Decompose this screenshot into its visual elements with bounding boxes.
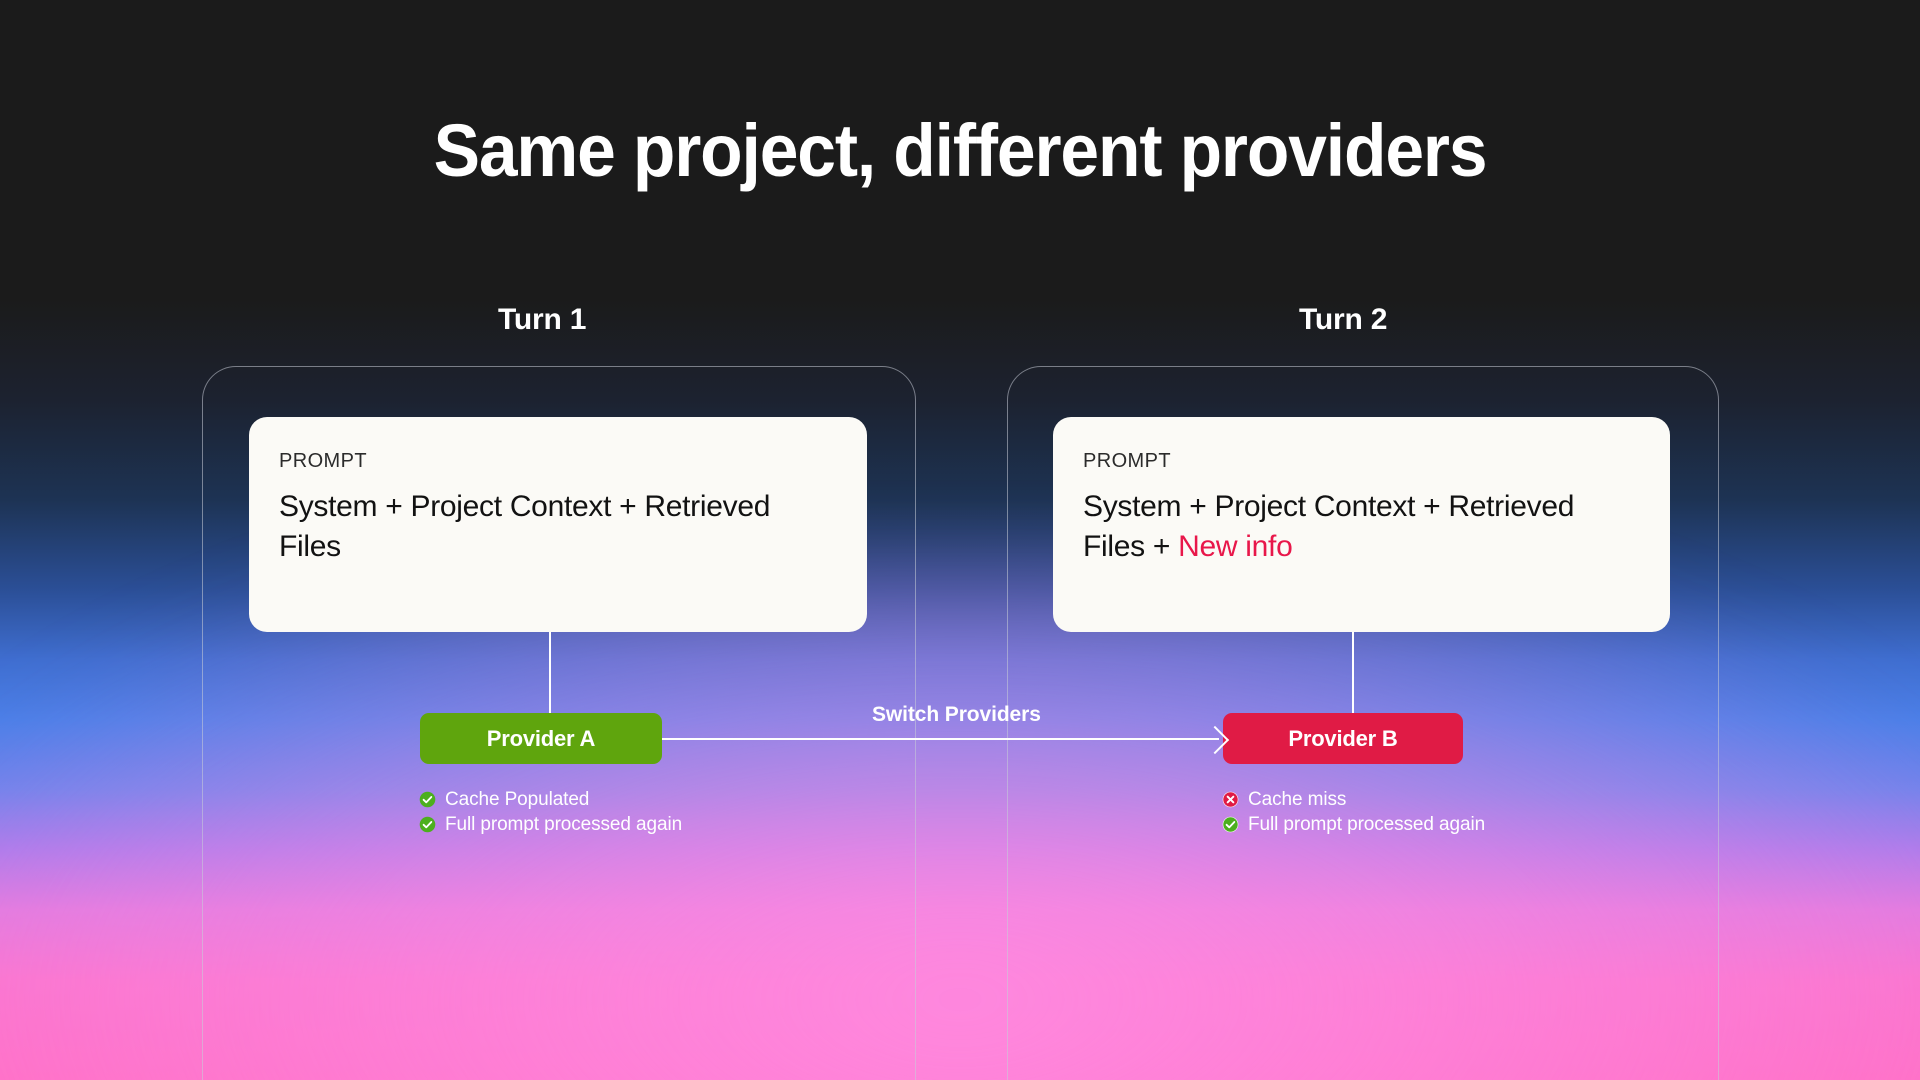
- page-title: Same project, different providers: [58, 108, 1863, 193]
- check-circle-icon: [419, 816, 436, 833]
- status-label: Full prompt processed again: [1248, 814, 1485, 836]
- turn-2-prompt-highlight: New info: [1178, 530, 1292, 563]
- turn-2-prompt-label: PROMPT: [1083, 450, 1640, 473]
- turn-1-status-list: Cache Populated Full prompt processed ag…: [419, 787, 682, 837]
- x-circle-icon: [1222, 791, 1239, 808]
- turn-1-heading: Turn 1: [498, 303, 586, 337]
- switch-providers-label: Switch Providers: [872, 703, 1041, 727]
- turn-1-prompt-label: PROMPT: [279, 450, 837, 473]
- turn-2-prompt-text: System + Project Context + Retrieved Fil…: [1083, 490, 1574, 563]
- status-item: Cache miss: [1222, 787, 1485, 812]
- check-circle-icon: [1222, 816, 1239, 833]
- turn-1-prompt-card: PROMPT System + Project Context + Retrie…: [249, 417, 867, 632]
- diagram-canvas: Same project, different providers Turn 1…: [0, 0, 1920, 1080]
- turn-2-prompt-body: System + Project Context + Retrieved Fil…: [1083, 487, 1640, 567]
- status-label: Cache Populated: [445, 789, 589, 811]
- status-label: Full prompt processed again: [445, 814, 682, 836]
- provider-b-button[interactable]: Provider B: [1223, 713, 1463, 764]
- turn-2-status-list: Cache miss Full prompt processed again: [1222, 787, 1485, 837]
- status-item: Full prompt processed again: [1222, 812, 1485, 837]
- switch-providers-connector-line: [662, 738, 1219, 740]
- status-item: Full prompt processed again: [419, 812, 682, 837]
- check-circle-icon: [419, 791, 436, 808]
- status-item: Cache Populated: [419, 787, 682, 812]
- status-label: Cache miss: [1248, 789, 1346, 811]
- turn-1-prompt-body: System + Project Context + Retrieved Fil…: [279, 487, 837, 567]
- turn-1-prompt-text: System + Project Context + Retrieved Fil…: [279, 490, 770, 563]
- turn-2-heading: Turn 2: [1299, 303, 1387, 337]
- turn-2-prompt-card: PROMPT System + Project Context + Retrie…: [1053, 417, 1670, 632]
- provider-a-button[interactable]: Provider A: [420, 713, 662, 764]
